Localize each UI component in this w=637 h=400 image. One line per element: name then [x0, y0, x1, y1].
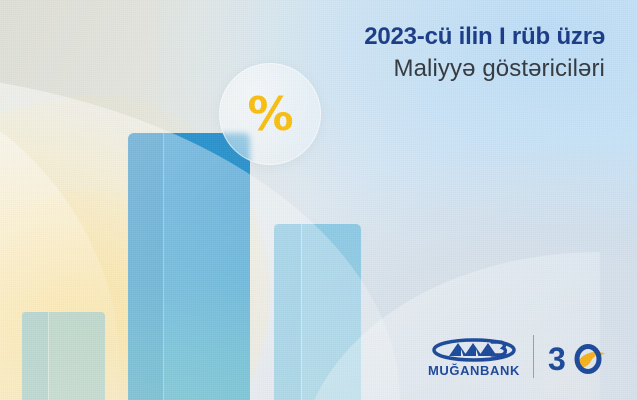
percent-badge: % — [219, 63, 321, 165]
muganbank-wordmark: MUĞANBANK — [428, 364, 520, 377]
headline-line-1: 2023-cü ilin I rüb üzrə — [364, 22, 605, 51]
muganbank-logo-mark — [432, 336, 516, 362]
headline: 2023-cü ilin I rüb üzrə Maliyyə göstəric… — [364, 22, 605, 84]
chart-bar-right-shade — [274, 224, 301, 400]
percent-icon: % — [247, 91, 292, 137]
svg-text:3: 3 — [548, 341, 566, 377]
logo-divider — [533, 335, 534, 378]
chart-bar-left — [22, 312, 105, 400]
chart-bar-center-seam — [163, 133, 164, 400]
chart-bar-left-seam — [48, 312, 49, 400]
muganbank-logo: MUĞANBANK — [428, 336, 520, 377]
chart-bar-center — [128, 133, 250, 400]
chart-bar-right-seam — [301, 224, 302, 400]
headline-line-2: Maliyyə göstəriciləri — [364, 54, 605, 83]
logo-lockup: MUĞANBANK 3 — [428, 335, 609, 378]
chart-bar-right — [274, 224, 361, 400]
chart-bar-center-shade — [128, 133, 163, 400]
financial-results-banner: % 2023-cü ilin I rüb üzrə Maliyyə göstər… — [0, 0, 637, 400]
chart-bar-left-shade — [22, 312, 48, 400]
anniversary-30-badge: 3 — [547, 337, 609, 377]
